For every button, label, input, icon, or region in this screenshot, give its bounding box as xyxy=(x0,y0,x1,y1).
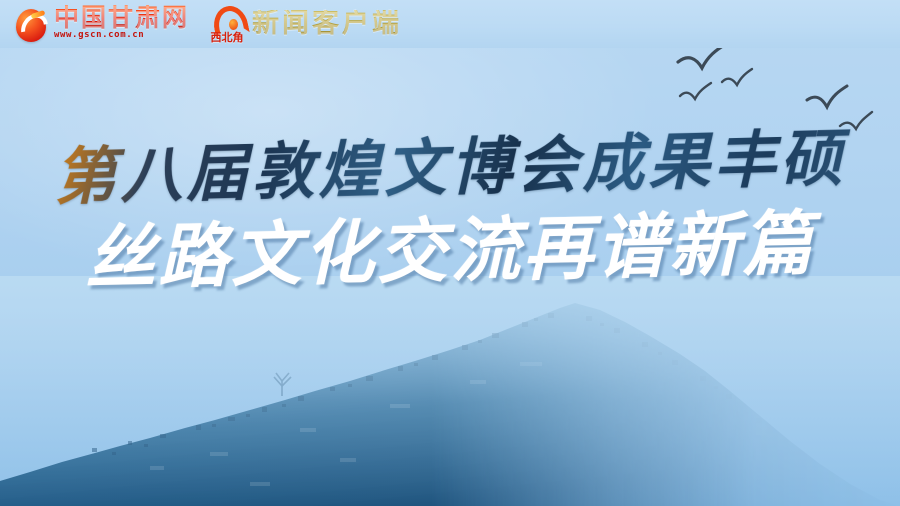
news-client-logo[interactable]: 西北角 新闻客户端 xyxy=(209,5,402,43)
xibeijiao-flame-icon: 西北角 xyxy=(209,5,245,43)
headline-line-1: 第八届敦煌文博会成果丰硕 xyxy=(0,121,900,215)
bird-icon xyxy=(680,83,711,99)
news-client-name: 新闻客户端 xyxy=(252,10,402,38)
bird-icon xyxy=(722,69,752,85)
mist-overlay xyxy=(0,276,900,506)
headline-block: 第八届敦煌文博会成果丰硕 丝路文化交流再谱新篇 xyxy=(0,132,900,292)
poster-canvas: 第八届敦煌文博会成果丰硕 丝路文化交流再谱新篇 中国甘肃网 www.gscn.c… xyxy=(0,0,900,506)
gansu-net-name: 中国甘肃网 xyxy=(54,5,189,30)
headline-line-2: 丝路文化交流再谱新篇 xyxy=(0,201,900,302)
site-header-bar: 中国甘肃网 www.gscn.com.cn 西北角 新闻客户端 xyxy=(0,0,900,48)
gansu-net-logo[interactable]: 中国甘肃网 www.gscn.com.cn xyxy=(14,5,189,44)
mountain-ridge-illustration xyxy=(0,276,900,506)
gansu-net-wordmark: 中国甘肃网 www.gscn.com.cn xyxy=(54,5,189,44)
xibeijiao-sub-label: 西北角 xyxy=(209,32,245,44)
flame-dot-shape xyxy=(229,19,238,30)
bird-icon xyxy=(807,86,847,107)
gansu-net-url: www.gscn.com.cn xyxy=(54,30,189,41)
gansu-net-emblem-icon xyxy=(14,7,48,44)
